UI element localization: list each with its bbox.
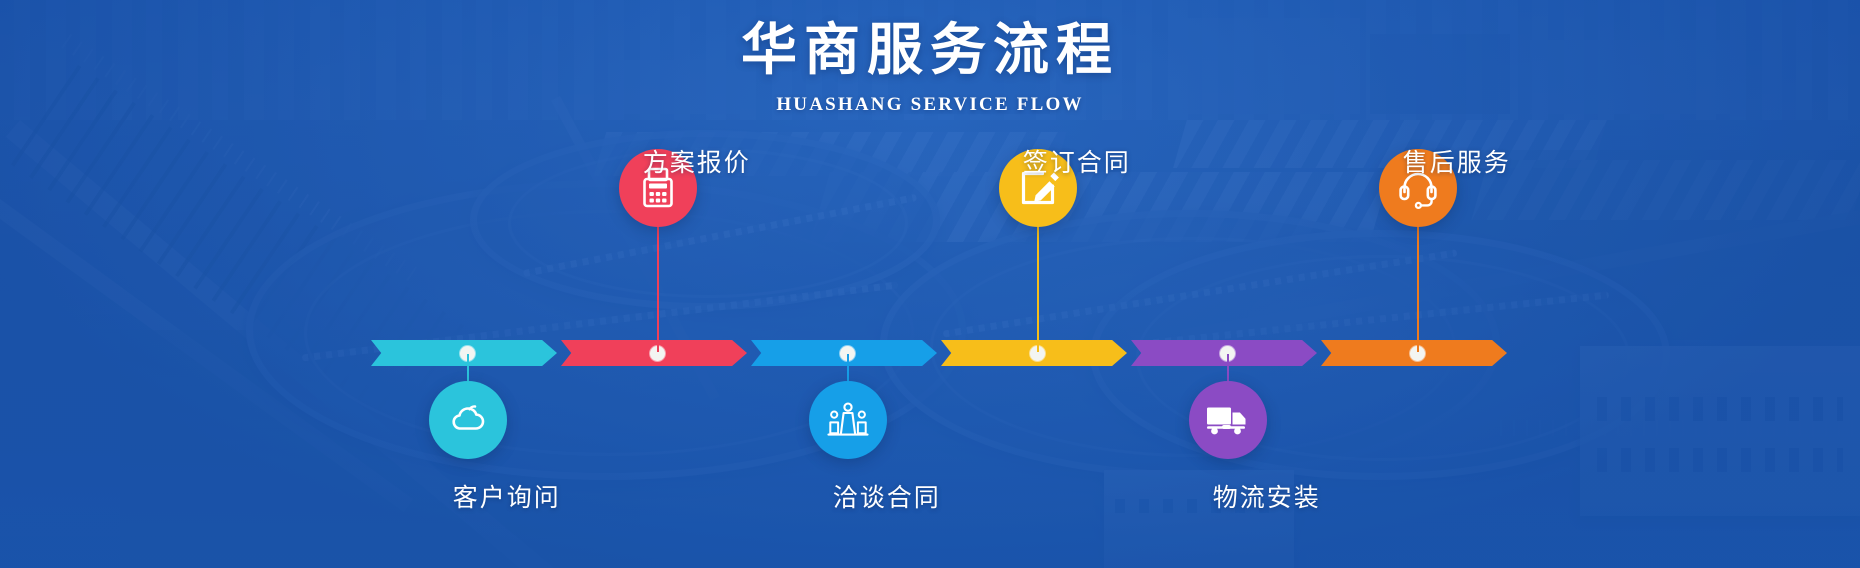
- cloud-chat-icon[interactable]: [429, 381, 507, 459]
- flow-step-label-6: 售后服务: [1327, 143, 1587, 179]
- flow-chevron-4[interactable]: [941, 340, 1127, 366]
- flow-chevron-1[interactable]: [371, 340, 557, 366]
- meeting-icon[interactable]: [809, 381, 887, 459]
- flow-chevron-2[interactable]: [561, 340, 747, 366]
- service-flow-banner: 华商服务流程 HUASHANG SERVICE FLOW 客户询问方案报价洽谈合…: [0, 0, 1860, 568]
- flow-chevron-6[interactable]: [1321, 340, 1507, 366]
- flow-connector-5: [1227, 354, 1229, 381]
- flow-step-label-5: 物流安装: [1137, 478, 1397, 514]
- flow-chevron-5[interactable]: [1131, 340, 1317, 366]
- flow-chevron-3[interactable]: [751, 340, 937, 366]
- truck-icon[interactable]: [1189, 381, 1267, 459]
- flow-connector-4: [1037, 227, 1039, 352]
- flow-step-label-1: 客户询问: [377, 478, 637, 514]
- flow-connector-2: [657, 227, 659, 352]
- flow-connector-6: [1417, 227, 1419, 352]
- service-flow-diagram: 客户询问方案报价洽谈合同签订合同物流安装售后服务: [0, 0, 1860, 568]
- flow-step-label-4: 签订合同: [947, 143, 1207, 179]
- flow-step-label-3: 洽谈合同: [757, 478, 1017, 514]
- flow-connector-3: [847, 354, 849, 381]
- flow-step-label-2: 方案报价: [567, 143, 827, 179]
- flow-connector-1: [467, 354, 469, 381]
